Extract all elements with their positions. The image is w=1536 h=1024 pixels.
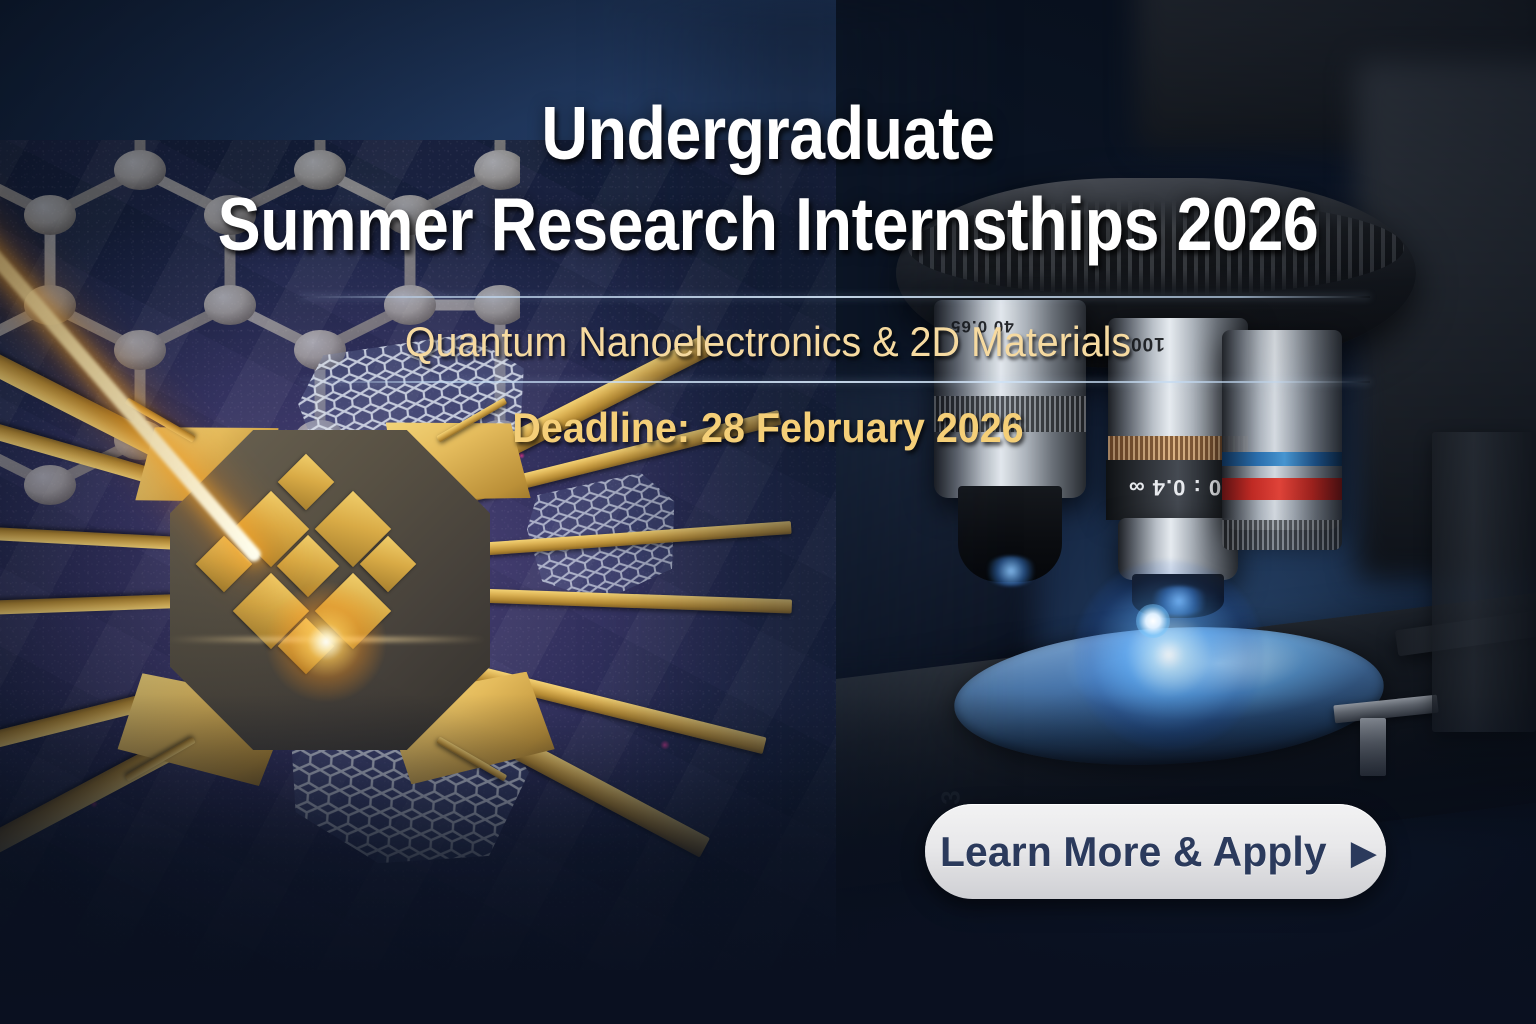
headline-line-2: Summer Research Internsthips 2026	[108, 187, 1429, 262]
divider-bottom	[300, 381, 1370, 383]
cta-label: Learn More & Apply	[940, 828, 1327, 876]
headline-line-1: Undergraduate	[108, 96, 1429, 171]
play-arrow-icon: ▶	[1351, 836, 1377, 870]
banner-headline: Undergraduate Summer Research Internsthi…	[0, 96, 1536, 262]
promo-banner: 40 0.65 100 50 : 0.4 ∞ 3	[0, 0, 1536, 1024]
deadline-text: Deadline: 28 February 2026	[46, 404, 1490, 452]
learn-more-apply-button[interactable]: Learn More & Apply ▶	[925, 804, 1386, 899]
banner-content: Undergraduate Summer Research Internsthi…	[0, 0, 1536, 1024]
divider-top	[300, 296, 1370, 298]
banner-subtitle: Quantum Nanoelectronics & 2D Materials	[46, 318, 1490, 366]
